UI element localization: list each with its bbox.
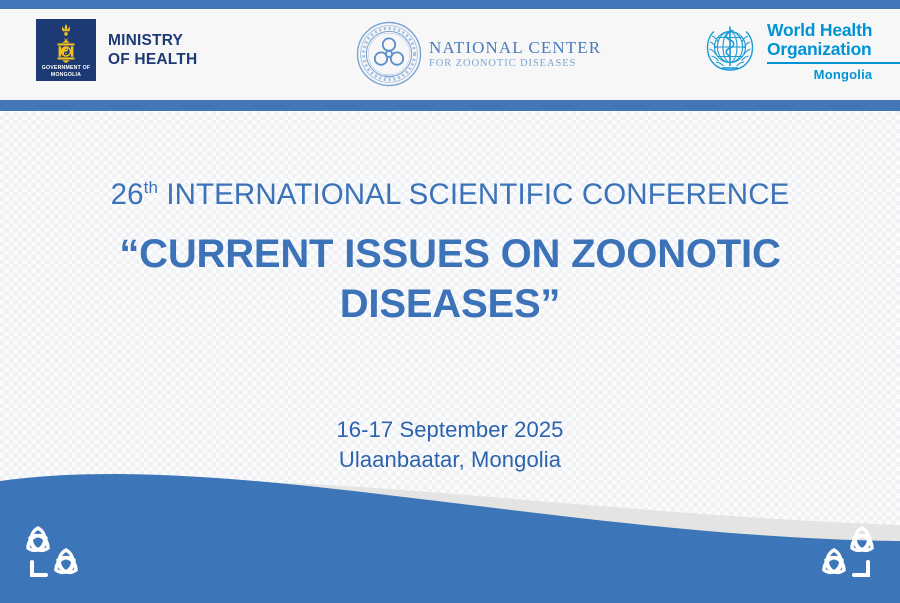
national-center-name-line2: FOR ZOONOTIC DISEASES xyxy=(429,57,601,70)
conference-theme-line2: DISEASES” xyxy=(75,279,825,329)
national-center-logo: 1951 NATIONAL CENTER FOR ZOONOTIC DISEAS… xyxy=(355,20,601,88)
ministry-of-health-logo: GOVERNMENT OF MONGOLIA MINISTRY OF HEALT… xyxy=(36,19,197,81)
triquetra-knot-icon xyxy=(808,520,884,586)
footer-wave-blue xyxy=(0,474,900,603)
header-divider-bar xyxy=(0,100,900,111)
conference-edition-number: 26 xyxy=(111,178,144,211)
who-emblem-icon xyxy=(700,20,760,80)
conference-title-slide: GOVERNMENT OF MONGOLIA MINISTRY OF HEALT… xyxy=(0,0,900,603)
conference-theme: “CURRENT ISSUES ON ZOONOTIC DISEASES” xyxy=(75,229,825,329)
top-accent-bar xyxy=(0,0,900,9)
biohazard-seal-icon: 1951 xyxy=(355,20,423,88)
conference-theme-line1: “CURRENT ISSUES ON ZOONOTIC xyxy=(75,229,825,279)
conference-title: INTERNATIONAL SCIENTIFIC CONFERENCE xyxy=(166,178,789,211)
ministry-name: MINISTRY OF HEALTH xyxy=(108,31,197,69)
government-emblem-caption: GOVERNMENT OF MONGOLIA xyxy=(36,65,96,78)
emblem-caption-line2: MONGOLIA xyxy=(36,72,96,78)
event-date: 16-17 September 2025 xyxy=(0,415,900,445)
conference-edition-ordinal: th xyxy=(144,178,158,197)
seal-year: 1951 xyxy=(384,74,395,80)
who-name: World Health Organization Mongolia xyxy=(767,20,900,82)
mongolia-government-emblem: GOVERNMENT OF MONGOLIA xyxy=(36,19,96,81)
soyombo-icon xyxy=(49,23,83,63)
triquetra-knot-icon xyxy=(16,520,92,586)
footer-wave-decoration xyxy=(0,463,900,603)
emblem-caption-line1: GOVERNMENT OF xyxy=(36,65,96,71)
conference-edition-line: 26th INTERNATIONAL SCIENTIFIC CONFERENCE xyxy=(0,178,900,212)
who-name-line2: Organization xyxy=(767,40,900,59)
ministry-name-line1: MINISTRY xyxy=(108,31,197,50)
national-center-name: NATIONAL CENTER FOR ZOONOTIC DISEASES xyxy=(429,38,601,70)
national-center-name-line1: NATIONAL CENTER xyxy=(429,38,601,57)
triquetra-ornament-right xyxy=(808,520,884,586)
who-name-line1: World Health xyxy=(767,21,900,40)
who-logo: World Health Organization Mongolia xyxy=(700,20,900,82)
triquetra-ornament-left xyxy=(16,520,92,586)
who-country: Mongolia xyxy=(767,67,900,82)
ministry-name-line2: OF HEALTH xyxy=(108,50,197,69)
who-divider xyxy=(767,62,900,64)
